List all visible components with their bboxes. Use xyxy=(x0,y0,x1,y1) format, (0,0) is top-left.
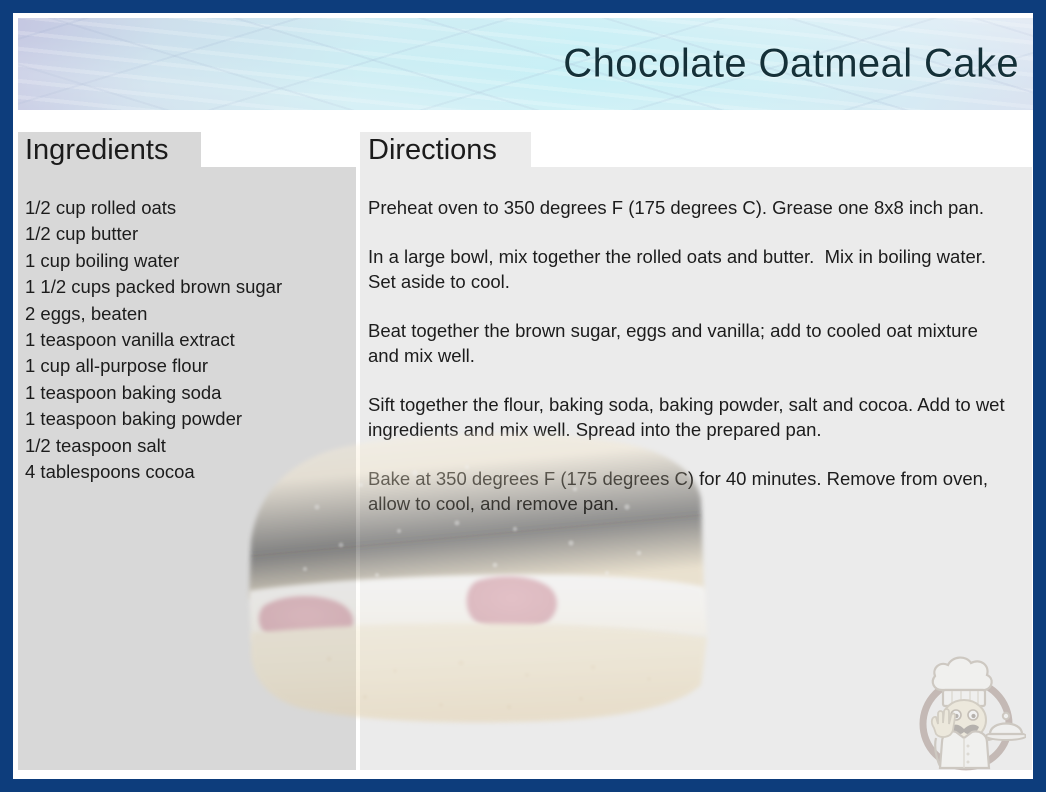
title-banner: Chocolate Oatmeal Cake xyxy=(18,18,1033,110)
ingredient-item: 1/2 cup butter xyxy=(25,221,351,247)
ingredient-item: 1 teaspoon baking soda xyxy=(25,380,351,406)
recipe-card-page: Chocolate Oatmeal Cake Ingredients Direc… xyxy=(13,13,1033,779)
ingredient-item: 1 teaspoon vanilla extract xyxy=(25,327,351,353)
directions-steps: Preheat oven to 350 degrees F (175 degre… xyxy=(368,195,1012,516)
ingredient-item: 1/2 cup rolled oats xyxy=(25,195,351,221)
ingredient-item: 1 cup all-purpose flour xyxy=(25,353,351,379)
direction-step: Beat together the brown sugar, eggs and … xyxy=(368,318,1012,368)
direction-step: In a large bowl, mix together the rolled… xyxy=(368,244,1012,294)
recipe-title: Chocolate Oatmeal Cake xyxy=(563,42,1019,87)
ingredients-list: 1/2 cup rolled oats1/2 cup butter1 cup b… xyxy=(25,195,351,485)
ingredient-item: 1/2 teaspoon salt xyxy=(25,433,351,459)
ingredients-heading: Ingredients xyxy=(25,136,169,165)
ingredient-item: 4 tablespoons cocoa xyxy=(25,459,351,485)
directions-heading: Directions xyxy=(368,136,497,165)
ingredient-item: 1 cup boiling water xyxy=(25,248,351,274)
ingredient-item: 1 teaspoon baking powder xyxy=(25,406,351,432)
ingredient-item: 2 eggs, beaten xyxy=(25,301,351,327)
direction-step: Sift together the flour, baking soda, ba… xyxy=(368,392,1012,442)
direction-step: Bake at 350 degrees F (175 degrees C) fo… xyxy=(368,466,1012,516)
recipe-card-frame: Chocolate Oatmeal Cake Ingredients Direc… xyxy=(0,0,1046,792)
direction-step: Preheat oven to 350 degrees F (175 degre… xyxy=(368,195,1012,220)
ingredient-item: 1 1/2 cups packed brown sugar xyxy=(25,274,351,300)
